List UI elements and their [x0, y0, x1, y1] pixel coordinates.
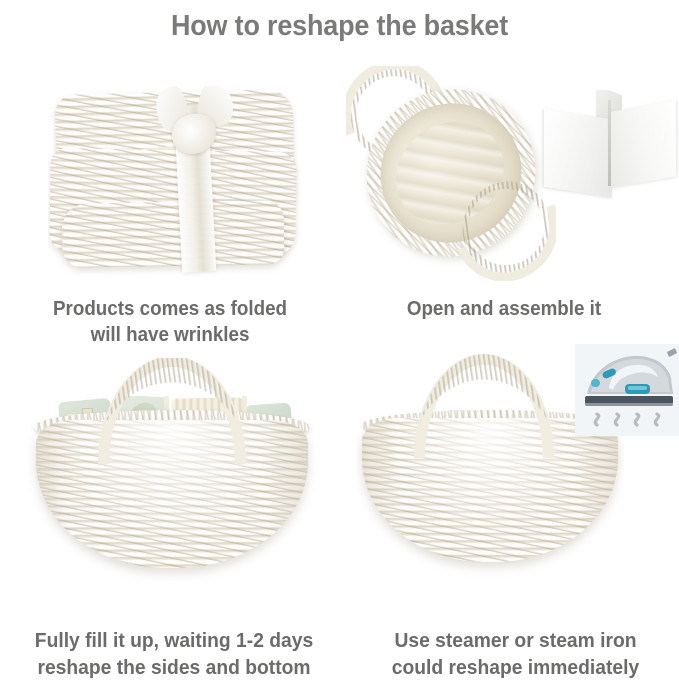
step-1-caption-line-1: Products comes as folded	[18, 296, 323, 322]
step-2-caption: Open and assemble it	[354, 296, 655, 322]
infographic-page: How to reshape the basket Products comes…	[0, 0, 679, 687]
step-1-caption-line-2: will have wrinkles	[18, 322, 323, 348]
step-3-caption-line-1: Fully fill it up, waiting 1-2 days	[10, 627, 337, 654]
step-3-caption-line-2: reshape the sides and bottom	[10, 654, 337, 681]
step-1-image-folded-basket	[48, 86, 306, 278]
step-2-image-open-basket	[346, 66, 556, 281]
page-title: How to reshape the basket	[24, 0, 655, 52]
step-4-caption-line-2: could reshape immediately	[362, 654, 669, 681]
step-4-caption: Use steamer or steam iron could reshape …	[362, 627, 669, 681]
step-3-image-filled-basket: Avorón	[28, 358, 318, 588]
folded-basket-front-layer	[61, 200, 284, 268]
step-2-image-divider-insert	[540, 90, 679, 202]
step-2-caption-line-1: Open and assemble it	[354, 296, 655, 322]
filled-basket-handle	[98, 358, 246, 464]
divider-right-panel	[610, 100, 676, 188]
step-3-caption: Fully fill it up, waiting 1-2 days resha…	[10, 627, 337, 681]
empty-basket-handle	[414, 354, 554, 458]
step-1-caption: Products comes as folded will have wrink…	[18, 296, 323, 348]
steam-iron-icon	[575, 344, 679, 436]
divider-fold-spine	[608, 100, 611, 186]
divider-left-panel	[544, 109, 612, 198]
step-4-caption-line-1: Use steamer or steam iron	[362, 627, 669, 654]
